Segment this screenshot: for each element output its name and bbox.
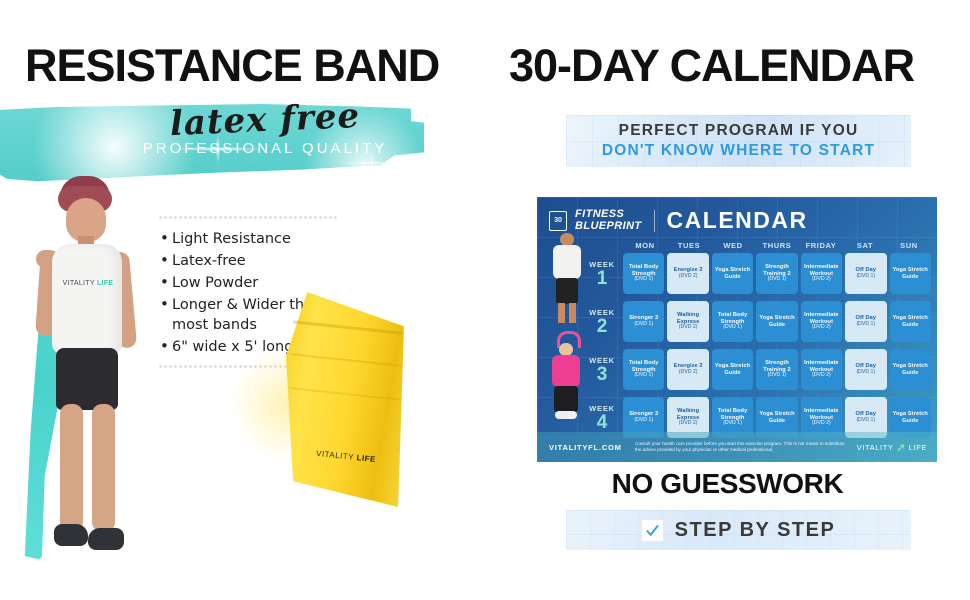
cell-workout-title: Strength Training 2 (757, 360, 796, 373)
leg (569, 303, 576, 323)
cell-dvd-label: (DVD 2) (674, 274, 703, 280)
calendar-day-cell[interactable]: Total Body Strength(DVD 1) (623, 349, 664, 390)
cell-dvd-label: (DVD 1) (629, 322, 658, 328)
cell-workout-title: Yoga Stretch Guide (891, 363, 930, 376)
cell-workout-title: Yoga Stretch Guide (891, 315, 930, 328)
left-headline: RESISTANCE BAND (25, 40, 465, 92)
model-right-leg (92, 404, 115, 532)
model-photo: VITALITY LIFE (14, 176, 164, 596)
footer-logo-mark: LIFE (909, 443, 927, 452)
cell-dvd-label: (DVD 2) (802, 373, 841, 379)
cell-dvd-label: (DVD 1) (624, 373, 663, 379)
cell-dvd-label: (DVD 1) (713, 421, 752, 427)
calendar-day-cell[interactable]: Total Body Strength(DVD 1) (712, 301, 753, 342)
calendar-day-cell[interactable]: Yoga Stretch Guide (890, 253, 931, 294)
tshirt-logo-mark: LIFE (97, 280, 113, 287)
header-divider (654, 210, 655, 232)
calendar-day-cell[interactable]: Yoga Stretch Guide (712, 253, 753, 294)
week-number: 3 (597, 365, 608, 384)
cell-workout-title: Yoga Stretch Guide (757, 315, 796, 328)
right-panel: 30-DAY CALENDAR PERFECT PROGRAM IF YOU D… (485, 0, 970, 600)
footer-website-url: VITALITYFL.COM (549, 443, 635, 452)
week-number: 1 (597, 269, 608, 288)
divider-top (158, 216, 338, 219)
cell-workout-title: Yoga Stretch Guide (757, 411, 796, 424)
cell-dvd-label: (DVD 1) (856, 418, 877, 424)
calendar-day-cell[interactable]: Off Day(DVD 1) (845, 253, 886, 294)
day-header-sun: SUN (887, 241, 931, 250)
cell-dvd-label: (DVD 2) (674, 370, 703, 376)
fitness-calendar-card: 30 FITNESS BLUEPRINT CALENDAR (537, 197, 937, 462)
day-header-friday: FRIDAY (799, 241, 843, 250)
calendar-day-cell[interactable]: Yoga Stretch Guide (712, 349, 753, 390)
footer-disclaimer: Consult your health care provider before… (635, 441, 857, 453)
cell-workout-title: Yoga Stretch Guide (713, 267, 752, 280)
calendar-day-cell[interactable]: Intermediate Workout(DVD 2) (801, 253, 842, 294)
calendar-week-cells: Total Body Strength(DVD 1)Energize 2(DVD… (623, 250, 931, 297)
calendar-day-cell[interactable]: Stronger 3(DVD 1) (623, 301, 664, 342)
step-by-step-banner: STEP BY STEP (566, 510, 911, 550)
model-left-leg (60, 404, 83, 532)
calendar-day-cell[interactable]: Off Day(DVD 1) (845, 349, 886, 390)
cell-dvd-label: (DVD 1) (757, 373, 796, 379)
cell-workout-title: Intermediate Workout (802, 312, 841, 325)
calendar-day-cell[interactable]: Off Day(DVD 1) (845, 301, 886, 342)
cell-dvd-label: (DVD 1) (856, 322, 877, 328)
week-number: 2 (597, 317, 608, 336)
leggings (554, 386, 578, 412)
list-item: Low Powder (172, 273, 338, 293)
footer-logo-brand: VITALITY (857, 443, 894, 452)
calendar-week-row: WEEK2Stronger 3(DVD 1)Walking Express(DV… (581, 298, 931, 345)
leg (558, 303, 565, 323)
calendar-week-cells: Stronger 3(DVD 1)Walking Express(DVD 2)T… (623, 298, 931, 345)
shirt (553, 245, 581, 279)
cell-dvd-label: (DVD 2) (802, 421, 841, 427)
tshirt-logo: VITALITY LIFE (60, 280, 116, 287)
badge-number: 30 (554, 217, 562, 224)
cell-workout-title: Intermediate Workout (802, 360, 841, 373)
calendar-day-cell[interactable]: Yoga Stretch Guide (890, 301, 931, 342)
cell-workout-title: Intermediate Workout (802, 264, 841, 277)
cell-workout-title: Yoga Stretch Guide (891, 267, 930, 280)
checkmark-icon (642, 520, 663, 541)
cell-workout-title: Total Body Strength (624, 264, 663, 277)
step-by-step-label: STEP BY STEP (675, 519, 836, 542)
cell-workout-title: Yoga Stretch Guide (891, 411, 930, 424)
left-panel: RESISTANCE BAND latex free PROFESSIONAL … (0, 0, 485, 600)
cell-dvd-label: (DVD 2) (802, 325, 841, 331)
model-right-shoe (88, 528, 124, 550)
calendar-day-cell[interactable]: Strength Training 2(DVD 1) (756, 253, 797, 294)
calendar-badge-icon: 30 (549, 211, 567, 231)
cell-workout-title: Total Body Strength (713, 408, 752, 421)
cell-dvd-label: (DVD 1) (629, 418, 658, 424)
calendar-day-cell[interactable]: Yoga Stretch Guide (890, 349, 931, 390)
cell-workout-title: Yoga Stretch Guide (713, 363, 752, 376)
calendar-header: 30 FITNESS BLUEPRINT CALENDAR (549, 207, 808, 234)
tshirt-logo-brand: VITALITY (63, 280, 95, 287)
calendar-day-cell[interactable]: Energize 2(DVD 2) (667, 349, 708, 390)
banner-line-2: DON'T KNOW WHERE TO START (602, 142, 875, 160)
day-header-mon: MON (623, 241, 667, 250)
calendar-day-cell[interactable]: Yoga Stretch Guide (756, 301, 797, 342)
calendar-day-header-row: MON TUES WED THURS FRIDAY SAT SUN (623, 241, 931, 250)
cell-workout-title: Walking Express (668, 312, 707, 325)
band-logo-mark: LIFE (356, 453, 376, 464)
cell-workout-title: Total Body Strength (713, 312, 752, 325)
footer-logo: VITALITY ➚ LIFE (857, 441, 927, 454)
cell-dvd-label: (DVD 2) (668, 421, 707, 427)
perfect-program-banner: PERFECT PROGRAM IF YOU DON'T KNOW WHERE … (566, 115, 911, 167)
calendar-day-cell[interactable]: Intermediate Workout(DVD 2) (801, 301, 842, 342)
week-number: 4 (597, 413, 608, 432)
shorts (556, 278, 578, 304)
calendar-day-cell[interactable]: Intermediate Workout(DVD 2) (801, 349, 842, 390)
cell-workout-title: Strength Training 2 (757, 264, 796, 277)
calendar-week-row: WEEK3Total Body Strength(DVD 1)Energize … (581, 346, 931, 393)
cell-workout-title: Intermediate Workout (802, 408, 841, 421)
week-label: WEEK3 (581, 346, 623, 393)
product-infographic: RESISTANCE BAND latex free PROFESSIONAL … (0, 0, 970, 600)
cell-dvd-label: (DVD 2) (668, 325, 707, 331)
calendar-week-row: WEEK1Total Body Strength(DVD 1)Energize … (581, 250, 931, 297)
cell-dvd-label: (DVD 1) (856, 370, 877, 376)
pink-top (552, 355, 580, 387)
day-header-tues: TUES (667, 241, 711, 250)
banner-line-1: PERFECT PROGRAM IF YOU (619, 122, 859, 140)
calendar-day-cell[interactable]: Total Body Strength(DVD 1) (623, 253, 664, 294)
model-shorts (56, 348, 118, 410)
list-item: Light Resistance (172, 229, 338, 249)
logo-line-1: FITNESS (575, 209, 642, 220)
calendar-day-cell[interactable]: Walking Express(DVD 2) (667, 301, 708, 342)
calendar-title: CALENDAR (667, 207, 808, 234)
cell-dvd-label: (DVD 1) (856, 274, 877, 280)
yellow-resistance-band-product: VITALITY LIFE (286, 292, 404, 507)
no-guesswork-heading: NO GUESSWORK (485, 468, 970, 500)
calendar-day-cell[interactable]: Strength Training 2(DVD 1) (756, 349, 797, 390)
cell-dvd-label: (DVD 2) (802, 277, 841, 283)
day-header-wed: WED (711, 241, 755, 250)
calendar-day-cell[interactable]: Energize 2(DVD 2) (667, 253, 708, 294)
cell-dvd-label: (DVD 1) (757, 277, 796, 283)
model-left-shoe (54, 524, 88, 546)
week-label: WEEK2 (581, 298, 623, 345)
cell-dvd-label: (DVD 1) (624, 277, 663, 283)
shoes (555, 411, 577, 419)
calendar-footer: VITALITYFL.COM Consult your health care … (537, 432, 937, 462)
right-headline: 30-DAY CALENDAR (509, 40, 959, 92)
professional-quality-subtitle: PROFESSIONAL QUALITY (140, 140, 390, 157)
cell-workout-title: Walking Express (668, 408, 707, 421)
list-item: Latex-free (172, 251, 338, 271)
day-header-thurs: THURS (755, 241, 799, 250)
cell-workout-title: Total Body Strength (624, 360, 663, 373)
calendar-week-cells: Total Body Strength(DVD 1)Energize 2(DVD… (623, 346, 931, 393)
vitality-life-mark-icon: ➚ (897, 441, 906, 454)
cell-dvd-label: (DVD 1) (713, 325, 752, 331)
fitness-blueprint-logo: FITNESS BLUEPRINT (575, 209, 642, 231)
calendar-weeks: WEEK1Total Body Strength(DVD 1)Energize … (581, 250, 931, 442)
model-tshirt (52, 244, 122, 354)
week-label: WEEK1 (581, 250, 623, 297)
day-header-sat: SAT (843, 241, 887, 250)
